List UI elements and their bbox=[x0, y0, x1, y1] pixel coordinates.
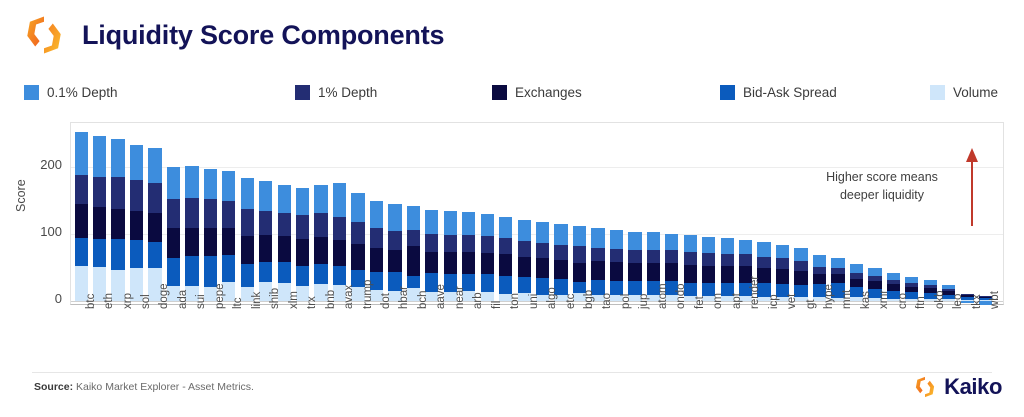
bar-segment bbox=[241, 236, 254, 264]
bar-segment bbox=[204, 228, 217, 256]
bar-group[interactable] bbox=[388, 123, 401, 306]
x-tick-label: fet bbox=[694, 296, 706, 309]
bar-segment bbox=[481, 253, 494, 274]
bar-segment bbox=[351, 244, 364, 269]
bar-segment bbox=[407, 246, 420, 275]
bar-segment bbox=[684, 235, 697, 252]
bar-segment bbox=[259, 211, 272, 235]
annotation-line-2: deeper liquidity bbox=[812, 186, 952, 204]
bar-group[interactable] bbox=[573, 123, 586, 306]
bar-group[interactable] bbox=[831, 123, 844, 306]
legend-label: Bid-Ask Spread bbox=[743, 85, 837, 100]
bar-segment bbox=[185, 256, 198, 285]
x-tick-label: vet bbox=[786, 294, 798, 309]
bar-group[interactable] bbox=[813, 123, 826, 306]
bar-group[interactable] bbox=[185, 123, 198, 306]
bar-segment bbox=[130, 145, 143, 180]
bar-segment bbox=[591, 228, 604, 248]
bar-segment bbox=[536, 222, 549, 243]
bar-segment bbox=[333, 183, 346, 217]
bar-segment bbox=[185, 228, 198, 257]
bar-group[interactable] bbox=[518, 123, 531, 306]
bar-group[interactable] bbox=[868, 123, 881, 306]
legend-item[interactable]: Volume bbox=[930, 85, 998, 100]
bar-group[interactable] bbox=[721, 123, 734, 306]
x-tick-label: kas bbox=[860, 291, 872, 309]
bar-group[interactable] bbox=[628, 123, 641, 306]
bar-segment bbox=[296, 215, 309, 239]
bar-segment bbox=[241, 178, 254, 210]
bar-group[interactable] bbox=[148, 123, 161, 306]
legend-item[interactable]: 1% Depth bbox=[295, 85, 377, 100]
x-tick-label: eth bbox=[103, 293, 115, 309]
bar-segment bbox=[739, 240, 752, 255]
bar-segment bbox=[905, 277, 918, 283]
bar-segment bbox=[554, 245, 567, 260]
bar-segment bbox=[610, 230, 623, 249]
bar-segment bbox=[407, 206, 420, 230]
x-tick-label: bch bbox=[417, 290, 429, 309]
bars-layer bbox=[71, 123, 1003, 304]
bar-segment bbox=[924, 280, 937, 285]
bar-segment bbox=[942, 285, 955, 289]
bar-segment bbox=[351, 193, 364, 221]
bar-segment bbox=[111, 209, 124, 239]
x-tick-label: trx bbox=[306, 296, 318, 309]
y-tick-label: 200 bbox=[26, 157, 62, 172]
bar-segment bbox=[222, 171, 235, 202]
bar-segment bbox=[794, 248, 807, 261]
x-tick-label: xrp bbox=[122, 293, 134, 309]
bar-segment bbox=[721, 266, 734, 283]
bar-segment bbox=[518, 220, 531, 241]
bar-group[interactable] bbox=[610, 123, 623, 306]
bar-segment bbox=[407, 230, 420, 246]
bar-segment bbox=[905, 283, 918, 286]
x-tick-label: ton bbox=[509, 293, 521, 309]
bar-group[interactable] bbox=[536, 123, 549, 306]
x-tick-label: pepe bbox=[214, 283, 226, 309]
bar-segment bbox=[794, 261, 807, 271]
annotation-line-1: Higher score means bbox=[812, 168, 952, 186]
bar-segment bbox=[628, 263, 641, 280]
bar-segment bbox=[499, 217, 512, 238]
legend-label: Exchanges bbox=[515, 85, 582, 100]
bar-segment bbox=[850, 264, 863, 273]
footer-divider bbox=[32, 372, 992, 373]
x-tick-label: atom bbox=[657, 283, 669, 309]
bar-segment bbox=[333, 266, 346, 285]
bar-segment bbox=[813, 274, 826, 284]
bar-segment bbox=[130, 240, 143, 268]
bar-segment bbox=[831, 274, 844, 283]
bar-segment bbox=[278, 236, 291, 263]
x-tick-label: tkx bbox=[971, 294, 983, 309]
bar-segment bbox=[831, 268, 844, 274]
bar-segment bbox=[444, 211, 457, 235]
bar-segment bbox=[776, 269, 789, 284]
x-tick-label: hype bbox=[823, 284, 835, 309]
x-tick-label: trump bbox=[362, 280, 374, 309]
x-tick-label: sol bbox=[140, 294, 152, 309]
bar-segment bbox=[296, 239, 309, 266]
bar-group[interactable] bbox=[314, 123, 327, 306]
bar-segment bbox=[702, 266, 715, 283]
x-tick-label: fil bbox=[491, 301, 503, 309]
bar-segment bbox=[481, 236, 494, 253]
bar-segment bbox=[536, 258, 549, 278]
bar-segment bbox=[868, 268, 881, 276]
x-tick-label: cro bbox=[897, 293, 909, 309]
bar-segment bbox=[684, 265, 697, 282]
bar-segment bbox=[425, 234, 438, 251]
footer-logo: Kaiko bbox=[913, 374, 1002, 400]
bar-segment bbox=[831, 258, 844, 267]
source-text: Kaiko Market Explorer - Asset Metrics. bbox=[73, 381, 254, 393]
bar-group[interactable] bbox=[924, 123, 937, 306]
x-tick-label: uni bbox=[528, 294, 540, 309]
bar-segment bbox=[370, 201, 383, 228]
bar-segment bbox=[462, 235, 475, 252]
x-tick-label: aave bbox=[435, 284, 447, 309]
bar-segment bbox=[259, 262, 272, 282]
bar-segment bbox=[314, 264, 327, 284]
legend-item[interactable]: 0.1% Depth bbox=[24, 85, 118, 100]
bar-segment bbox=[628, 250, 641, 263]
bar-segment bbox=[388, 231, 401, 250]
legend-item[interactable]: Exchanges bbox=[492, 85, 582, 100]
source-label: Source: bbox=[34, 381, 73, 393]
bar-segment bbox=[757, 257, 770, 268]
bar-segment bbox=[93, 136, 106, 176]
bar-segment bbox=[388, 250, 401, 273]
y-tick-label: 0 bbox=[26, 291, 62, 306]
x-tick-label: tao bbox=[601, 293, 613, 309]
bar-segment bbox=[185, 198, 198, 227]
bar-segment bbox=[462, 212, 475, 235]
bar-group[interactable] bbox=[702, 123, 715, 306]
plot-area bbox=[70, 122, 1004, 305]
bar-group[interactable] bbox=[462, 123, 475, 306]
x-tick-label: bgb bbox=[583, 290, 595, 309]
bar-segment bbox=[296, 188, 309, 215]
x-tick-label: hbar bbox=[398, 286, 410, 309]
kaiko-brackets-icon bbox=[913, 375, 937, 399]
bar-group[interactable] bbox=[259, 123, 272, 306]
x-axis-labels: btcethxrpsoldogeadasuipepeltclinkshibxlm… bbox=[70, 307, 1004, 367]
y-tick-label: 100 bbox=[26, 224, 62, 239]
bar-segment bbox=[75, 204, 88, 238]
x-tick-label: om bbox=[712, 293, 724, 309]
bar-segment bbox=[610, 249, 623, 262]
legend-item[interactable]: Bid-Ask Spread bbox=[720, 85, 837, 100]
legend-label: 0.1% Depth bbox=[47, 85, 118, 100]
x-tick-label: bnb bbox=[325, 290, 337, 309]
kaiko-brackets-icon bbox=[22, 13, 66, 57]
bar-segment bbox=[333, 240, 346, 267]
bar-segment bbox=[776, 258, 789, 269]
bar-segment bbox=[444, 235, 457, 252]
x-tick-label: ada bbox=[177, 290, 189, 309]
bar-segment bbox=[425, 252, 438, 273]
x-tick-label: leo bbox=[952, 294, 964, 309]
bar-segment bbox=[167, 258, 180, 286]
bar-group[interactable] bbox=[425, 123, 438, 306]
bar-segment bbox=[296, 266, 309, 286]
bar-segment bbox=[573, 263, 586, 282]
bar-segment bbox=[148, 148, 161, 183]
bar-segment bbox=[813, 255, 826, 267]
x-tick-label: mnt bbox=[841, 290, 853, 309]
bar-group[interactable] bbox=[481, 123, 494, 306]
bar-segment bbox=[610, 262, 623, 280]
bar-segment bbox=[702, 253, 715, 266]
bar-segment bbox=[850, 273, 863, 278]
bar-segment bbox=[314, 213, 327, 237]
chart-legend: 0.1% Depth 1% Depth Exchanges Bid-Ask Sp… bbox=[24, 80, 1004, 104]
x-tick-label: xlm bbox=[288, 291, 300, 309]
x-tick-label: near bbox=[454, 286, 466, 309]
bar-segment bbox=[167, 199, 180, 228]
legend-label: Volume bbox=[953, 85, 998, 100]
bar-segment bbox=[684, 252, 697, 265]
bar-group[interactable] bbox=[130, 123, 143, 306]
legend-swatch-depth-1 bbox=[295, 85, 310, 100]
x-tick-label: etc bbox=[565, 294, 577, 309]
bar-segment bbox=[887, 280, 900, 284]
bar-segment bbox=[665, 234, 678, 250]
annotation-text: Higher score means deeper liquidity bbox=[812, 168, 952, 204]
bar-group[interactable] bbox=[794, 123, 807, 306]
bar-group[interactable] bbox=[167, 123, 180, 306]
bar-segment bbox=[148, 183, 161, 214]
bar-segment bbox=[554, 224, 567, 245]
legend-swatch-exchanges bbox=[492, 85, 507, 100]
bar-segment bbox=[905, 287, 918, 292]
bar-segment bbox=[573, 226, 586, 246]
bar-segment bbox=[647, 263, 660, 280]
bar-segment bbox=[518, 241, 531, 257]
bar-segment bbox=[721, 254, 734, 266]
bar-segment bbox=[130, 180, 143, 211]
x-tick-label: okb bbox=[934, 290, 946, 309]
bar-segment bbox=[222, 201, 235, 228]
bar-segment bbox=[573, 246, 586, 263]
bar-segment bbox=[222, 228, 235, 255]
bar-segment bbox=[75, 132, 88, 175]
bar-segment bbox=[628, 232, 641, 249]
bar-segment bbox=[647, 232, 660, 249]
bar-segment bbox=[757, 242, 770, 257]
bar-segment bbox=[591, 248, 604, 261]
bar-segment bbox=[739, 254, 752, 266]
bar-segment bbox=[924, 285, 937, 288]
bar-group[interactable] bbox=[905, 123, 918, 306]
bar-segment bbox=[278, 185, 291, 213]
page-title: Liquidity Score Components bbox=[82, 20, 444, 51]
x-tick-label: wbt bbox=[989, 291, 1001, 309]
bar-segment bbox=[93, 207, 106, 239]
bar-segment bbox=[185, 166, 198, 198]
chart-header: Liquidity Score Components bbox=[0, 0, 1024, 70]
arrow-up-icon bbox=[962, 146, 982, 228]
x-tick-label: dot bbox=[380, 293, 392, 309]
bar-group[interactable] bbox=[370, 123, 383, 306]
bar-segment bbox=[111, 177, 124, 209]
bar-segment bbox=[591, 261, 604, 280]
bar-segment bbox=[93, 239, 106, 267]
bar-segment bbox=[518, 277, 531, 293]
bar-segment bbox=[333, 217, 346, 240]
bar-segment bbox=[481, 214, 494, 235]
y-axis-title: Score bbox=[14, 179, 28, 212]
bar-segment bbox=[314, 185, 327, 212]
bar-segment bbox=[278, 213, 291, 236]
bar-segment bbox=[75, 238, 88, 266]
bar-group[interactable] bbox=[296, 123, 309, 306]
bar-segment bbox=[499, 254, 512, 275]
bar-group[interactable] bbox=[942, 123, 955, 306]
bar-segment bbox=[868, 281, 881, 289]
x-tick-label: gt bbox=[805, 299, 817, 309]
bar-segment bbox=[776, 245, 789, 258]
bar-group[interactable] bbox=[333, 123, 346, 306]
bar-group[interactable] bbox=[444, 123, 457, 306]
x-tick-label: shib bbox=[269, 288, 281, 309]
bar-group[interactable] bbox=[93, 123, 106, 306]
bar-group[interactable] bbox=[684, 123, 697, 306]
x-tick-label: icp bbox=[768, 294, 780, 309]
bar-group[interactable] bbox=[241, 123, 254, 306]
bar-segment bbox=[388, 204, 401, 231]
bar-segment bbox=[111, 139, 124, 177]
x-tick-label: sui bbox=[195, 294, 207, 309]
x-tick-label: jup bbox=[638, 294, 650, 309]
bar-group[interactable] bbox=[499, 123, 512, 306]
bar-group[interactable] bbox=[222, 123, 235, 306]
bar-segment bbox=[850, 279, 863, 287]
bar-segment bbox=[518, 257, 531, 277]
bar-group[interactable] bbox=[278, 123, 291, 306]
bar-segment bbox=[259, 235, 272, 262]
bar-group[interactable] bbox=[887, 123, 900, 306]
bar-segment bbox=[425, 210, 438, 234]
x-tick-label: render bbox=[749, 276, 761, 309]
x-tick-label: ondo bbox=[675, 283, 687, 309]
x-tick-label: xmr bbox=[878, 290, 890, 309]
bar-segment bbox=[370, 228, 383, 248]
bar-group[interactable] bbox=[776, 123, 789, 306]
x-tick-label: apt bbox=[731, 293, 743, 309]
bar-segment bbox=[444, 252, 457, 273]
bar-segment bbox=[204, 169, 217, 200]
legend-swatch-volume bbox=[930, 85, 945, 100]
bar-segment bbox=[204, 199, 217, 227]
bar-group[interactable] bbox=[204, 123, 217, 306]
bar-segment bbox=[93, 177, 106, 207]
x-tick-label: avax bbox=[343, 285, 355, 309]
legend-swatch-depth-01 bbox=[24, 85, 39, 100]
bar-group[interactable] bbox=[407, 123, 420, 306]
bar-segment bbox=[167, 167, 180, 199]
footer-logo-text: Kaiko bbox=[944, 374, 1002, 400]
bar-segment bbox=[647, 250, 660, 263]
x-tick-label: link bbox=[251, 292, 263, 309]
legend-label: 1% Depth bbox=[318, 85, 377, 100]
bar-segment bbox=[499, 276, 512, 294]
bar-segment bbox=[241, 209, 254, 236]
bar-segment bbox=[481, 274, 494, 291]
bar-segment bbox=[887, 273, 900, 280]
x-tick-label: ftn bbox=[915, 296, 927, 309]
bar-group[interactable] bbox=[665, 123, 678, 306]
bar-segment bbox=[554, 260, 567, 279]
x-tick-label: btc bbox=[85, 294, 97, 309]
bar-segment bbox=[665, 250, 678, 263]
legend-swatch-bid-ask bbox=[720, 85, 735, 100]
source-note: Source: Kaiko Market Explorer - Asset Me… bbox=[34, 381, 254, 393]
bar-group[interactable] bbox=[111, 123, 124, 306]
x-tick-label: doge bbox=[158, 283, 170, 309]
bar-group[interactable] bbox=[850, 123, 863, 306]
x-tick-label: pol bbox=[620, 294, 632, 309]
bar-segment bbox=[351, 222, 364, 245]
bar-segment bbox=[111, 239, 124, 270]
bar-segment bbox=[462, 252, 475, 273]
bar-group[interactable] bbox=[591, 123, 604, 306]
bar-segment bbox=[75, 175, 88, 204]
bar-group[interactable] bbox=[75, 123, 88, 306]
bar-segment bbox=[259, 181, 272, 210]
bar-segment bbox=[167, 228, 180, 257]
bar-segment bbox=[665, 263, 678, 280]
bar-segment bbox=[813, 267, 826, 274]
bar-segment bbox=[536, 243, 549, 258]
bar-segment bbox=[278, 262, 291, 282]
bar-segment bbox=[148, 242, 161, 269]
bar-segment bbox=[721, 238, 734, 254]
bar-segment bbox=[499, 238, 512, 254]
bar-group[interactable] bbox=[351, 123, 364, 306]
bar-segment bbox=[702, 237, 715, 253]
bar-segment bbox=[868, 276, 881, 281]
x-tick-label: arb bbox=[472, 292, 484, 309]
bar-segment bbox=[241, 264, 254, 287]
x-tick-label: algo bbox=[546, 287, 558, 309]
bar-group[interactable] bbox=[647, 123, 660, 306]
bar-segment bbox=[130, 211, 143, 240]
bar-segment bbox=[794, 271, 807, 284]
bar-segment bbox=[314, 237, 327, 264]
bar-segment bbox=[370, 248, 383, 272]
bar-group[interactable] bbox=[554, 123, 567, 306]
x-tick-label: ltc bbox=[232, 298, 244, 310]
bar-segment bbox=[148, 213, 161, 241]
bar-segment bbox=[222, 255, 235, 282]
